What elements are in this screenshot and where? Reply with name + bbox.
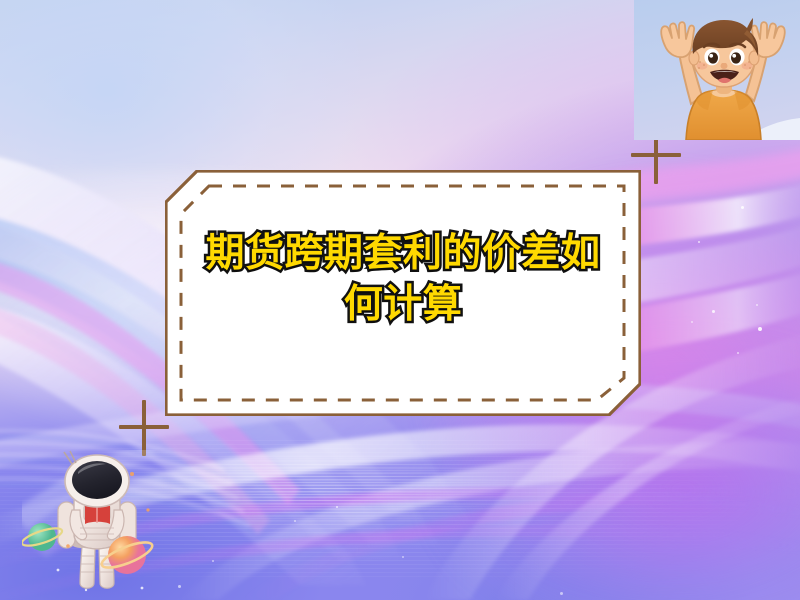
sparkle-dot: [737, 352, 739, 354]
sparkle-dot: [402, 556, 404, 558]
sparkle-dot: [758, 327, 762, 331]
background-striations-highlight: [130, 455, 550, 525]
sparkle-dot: [698, 241, 700, 243]
plus-mark-bottom-left-icon: [119, 400, 169, 456]
page-title: 期货跨期套利的价差如何计算: [189, 228, 617, 331]
sparkle-dot: [178, 585, 181, 588]
sparkle-dot: [712, 310, 715, 313]
sparkle-dot: [560, 592, 563, 595]
sparkle-dot: [756, 304, 758, 306]
cheering-boy-illustration: [634, 0, 800, 140]
sparkle-dot: [212, 560, 214, 562]
sparkle-dot: [741, 206, 744, 209]
sparkle-dot: [294, 520, 296, 522]
title-card: 期货跨期套利的价差如何计算: [165, 170, 641, 416]
slide-canvas: 期货跨期套利的价差如何计算: [0, 0, 800, 600]
sparkle-dot: [336, 506, 338, 508]
sparkle-dot: [691, 321, 693, 323]
title-block: 期货跨期套利的价差如何计算: [189, 228, 617, 331]
astronaut-illustration: [22, 450, 172, 600]
